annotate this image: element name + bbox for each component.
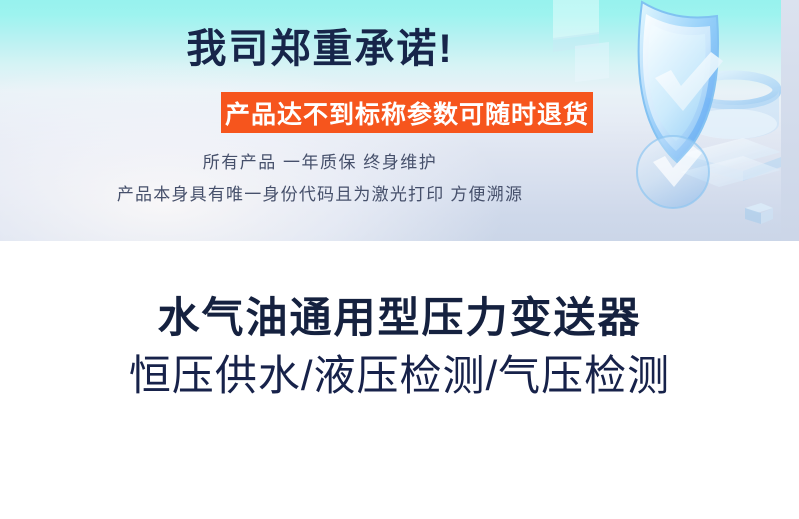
product-name-heading: 水气油通用型压力变送器 (0, 284, 799, 345)
banner-right-edge-strip (781, 0, 799, 241)
promise-detail-line-2: 产品本身具有唯一身份代码且为激光打印 方便溯源 (0, 180, 640, 205)
promise-banner: 我司郑重承诺! 产品达不到标称参数可随时退货 所有产品 一年质保 终身维护 产品… (0, 0, 799, 241)
promise-ribbon-label: 产品达不到标称参数可随时退货 (225, 95, 589, 131)
product-application-subtitle: 恒压供水/液压检测/气压检测 (0, 342, 799, 403)
promise-ribbon: 产品达不到标称参数可随时退货 (221, 92, 593, 133)
promise-detail-line-1: 所有产品 一年质保 终身维护 (0, 148, 640, 173)
product-promo-page: 我司郑重承诺! 产品达不到标称参数可随时退货 所有产品 一年质保 终身维护 产品… (0, 0, 799, 519)
product-title-section: 水气油通用型压力变送器 恒压供水/液压检测/气压检测 支持实地验厂 (0, 241, 799, 519)
promise-title: 我司郑重承诺! (0, 27, 640, 71)
